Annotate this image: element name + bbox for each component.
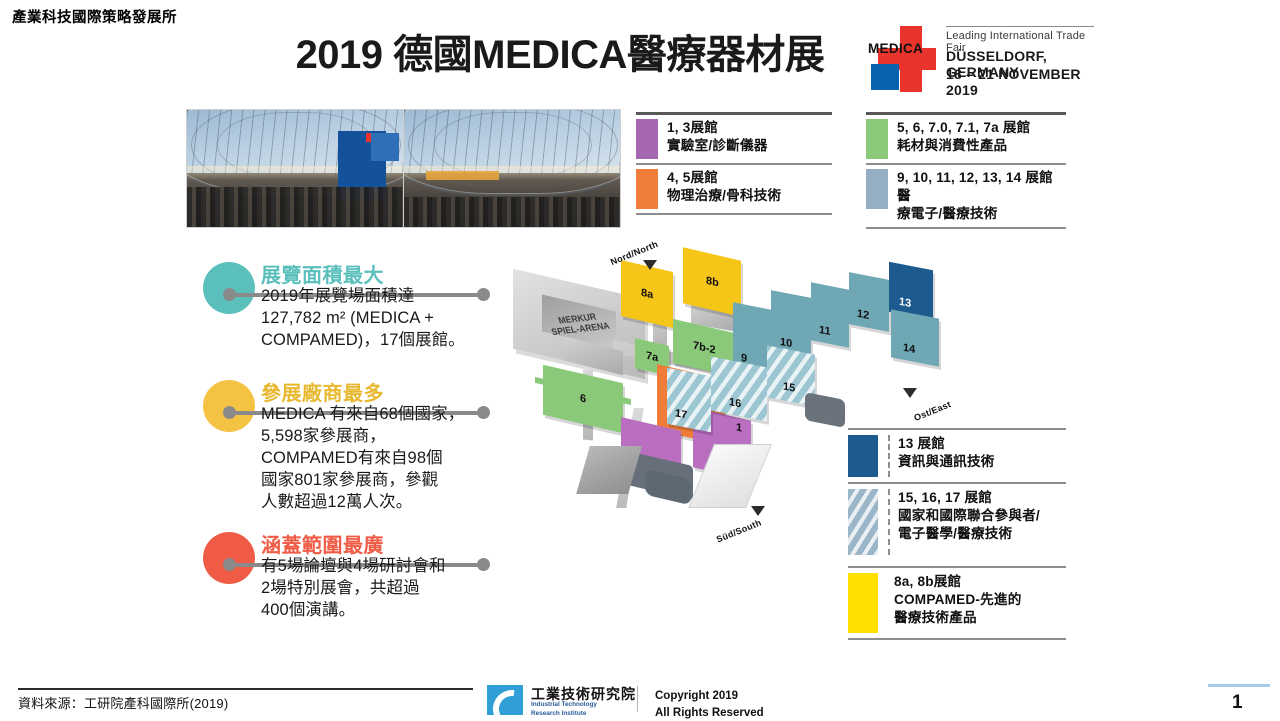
legend-rule — [848, 638, 1066, 640]
copyright-notice: Copyright 2019 All Rights Reserved — [655, 688, 764, 721]
itri-mark-icon — [487, 685, 523, 715]
legend-item: 4, 5展館物理治療/骨科技術 — [636, 163, 832, 213]
entrance-structure — [576, 446, 642, 494]
legend-item: 8a, 8b展館COMPAMED-先進的 醫療技術產品 — [848, 566, 1066, 640]
legend-label: 8a, 8b展館COMPAMED-先進的 醫療技術產品 — [894, 573, 1022, 633]
page-number-rule — [1208, 684, 1270, 687]
legend-swatch — [848, 573, 878, 633]
legend-label: 5, 6, 7.0, 7.1, 7a 展館耗材與消費性產品 — [897, 119, 1030, 155]
compass-east: Ost/East — [913, 399, 953, 423]
highlight-heading: 參展廠商最多 — [261, 377, 384, 406]
legend-item: 5, 6, 7.0, 7.1, 7a 展館耗材與消費性產品 — [866, 115, 1066, 163]
hall-11: 11 — [811, 282, 849, 347]
entrance-structure — [805, 392, 845, 428]
hall-8a: 8a — [621, 260, 673, 328]
legend-item: 9, 10, 11, 12, 13, 14 展館醫療電子/醫療技術 — [866, 163, 1066, 227]
legend-dash — [888, 435, 891, 477]
hall-legend-bottom: 13 展館資訊與通訊技術 15, 16, 17 展館國家和國際聯合參與者/ 電子… — [848, 428, 1066, 640]
legend-label: 9, 10, 11, 12, 13, 14 展館醫療電子/醫療技術 — [897, 169, 1066, 223]
medica-cross-icon — [866, 26, 938, 92]
legend-label: 1, 3展館實驗室/診斷儀器 — [667, 119, 768, 155]
organization-label: 產業科技國際策略發展所 — [12, 6, 177, 27]
itri-logo: 工業技術研究院 Industrial Technology Research I… — [487, 684, 642, 716]
medica-logo: MEDICA Leading International Trade Fair … — [866, 18, 1096, 96]
hall-legend-left: 1, 3展館實驗室/診斷儀器 4, 5展館物理治療/骨科技術 — [636, 112, 832, 215]
exhibition-photo-1 — [186, 109, 404, 228]
legend-label: 4, 5展館物理治療/骨科技術 — [667, 169, 781, 205]
compass-south: Süd/South — [715, 517, 763, 544]
page-number: 1 — [1232, 692, 1243, 714]
footer-divider — [18, 688, 473, 690]
legend-rule — [866, 227, 1066, 229]
logo-dates: 18 – 21 NOVEMBER 2019 — [946, 66, 1096, 98]
hall-12: 12 — [849, 272, 889, 332]
logo-divider — [946, 26, 1094, 27]
legend-item: 15, 16, 17 展館國家和國際聯合參與者/ 電子醫學/醫療技術 — [848, 482, 1066, 560]
legend-swatch — [848, 435, 878, 477]
legend-swatch-striped — [848, 489, 878, 555]
hall-16: 16 — [711, 357, 767, 422]
legend-swatch — [636, 169, 658, 209]
legend-swatch — [636, 119, 658, 159]
highlight-body: MEDICA 有來自68個國家， 5,598家參展商， COMPAMED有來自9… — [261, 404, 509, 514]
compass-arrow-north-icon — [643, 260, 657, 270]
highlight-body: 有5場論壇與4場研討會和 2場特別展會，共超過 400個演講。 — [261, 556, 509, 622]
footer-separator — [637, 686, 638, 712]
page-title: 2019 德國MEDICA醫療器材展 — [250, 22, 870, 80]
hall-17: 17 — [667, 368, 711, 433]
footer-source: 資料來源：工研院產科國際所(2019) — [18, 693, 228, 712]
legend-item: 1, 3展館實驗室/診斷儀器 — [636, 115, 832, 163]
legend-label: 13 展館資訊與通訊技術 — [898, 435, 995, 477]
compass-arrow-south-icon — [751, 506, 765, 516]
legend-dash — [888, 489, 891, 555]
legend-swatch — [866, 119, 888, 159]
medica-wordmark: MEDICA — [868, 41, 923, 56]
highlight-heading: 展覽面積最大 — [261, 259, 384, 288]
itri-name-en: Industrial Technology Research Institute — [531, 701, 597, 718]
legend-label: 15, 16, 17 展館國家和國際聯合參與者/ 電子醫學/醫療技術 — [898, 489, 1040, 555]
highlight-body: 2019年展覽場面積達 127,782 m² (MEDICA + COMPAME… — [261, 286, 506, 352]
legend-item: 13 展館資訊與通訊技術 — [848, 428, 1066, 482]
legend-rule — [636, 213, 832, 215]
hall-legend-right: 5, 6, 7.0, 7.1, 7a 展館耗材與消費性產品 9, 10, 11,… — [866, 112, 1066, 229]
compass-arrow-east-icon — [903, 388, 917, 398]
highlight-heading: 涵蓋範圍最廣 — [261, 529, 384, 558]
hall-14: 14 — [891, 309, 939, 366]
exhibition-photo-2 — [403, 109, 621, 228]
legend-swatch — [866, 169, 888, 209]
